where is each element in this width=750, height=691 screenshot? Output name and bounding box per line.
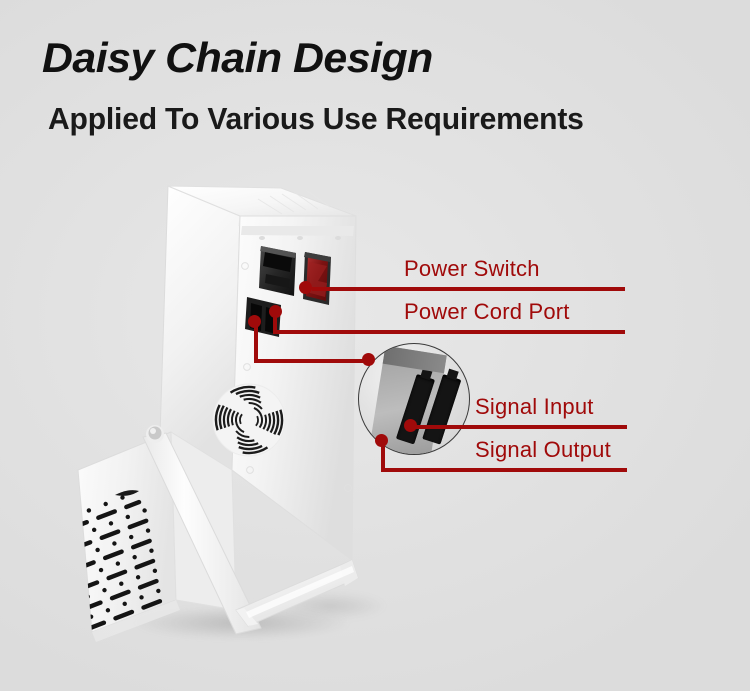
callout-label-power-cord-port: Power Cord Port <box>404 299 570 325</box>
callout-line-signal-input <box>410 425 627 429</box>
callout-line-signal-output <box>385 468 627 472</box>
power-switch <box>303 252 331 305</box>
callout-line-power-cord-port <box>277 330 625 334</box>
callout-dot-power-switch <box>299 281 312 294</box>
callout-dot-signal-output <box>375 434 388 447</box>
power-cord-socket <box>259 246 296 296</box>
magnifier-leader-line <box>254 359 372 363</box>
callout-line-power-switch <box>312 287 625 291</box>
product-banner: Daisy Chain Design Applied To Various Us… <box>0 0 750 691</box>
callout-label-signal-output: Signal Output <box>475 437 611 463</box>
magnifier-leader-dot <box>362 353 375 366</box>
callout-dot-signal-input <box>404 419 417 432</box>
callout-dot-signal-ports <box>248 315 261 328</box>
product-image <box>0 0 750 691</box>
callout-label-power-switch: Power Switch <box>404 256 540 282</box>
callout-dot-power-cord-port <box>269 305 282 318</box>
callout-label-signal-input: Signal Input <box>475 394 594 420</box>
hinge-screw <box>146 425 164 443</box>
